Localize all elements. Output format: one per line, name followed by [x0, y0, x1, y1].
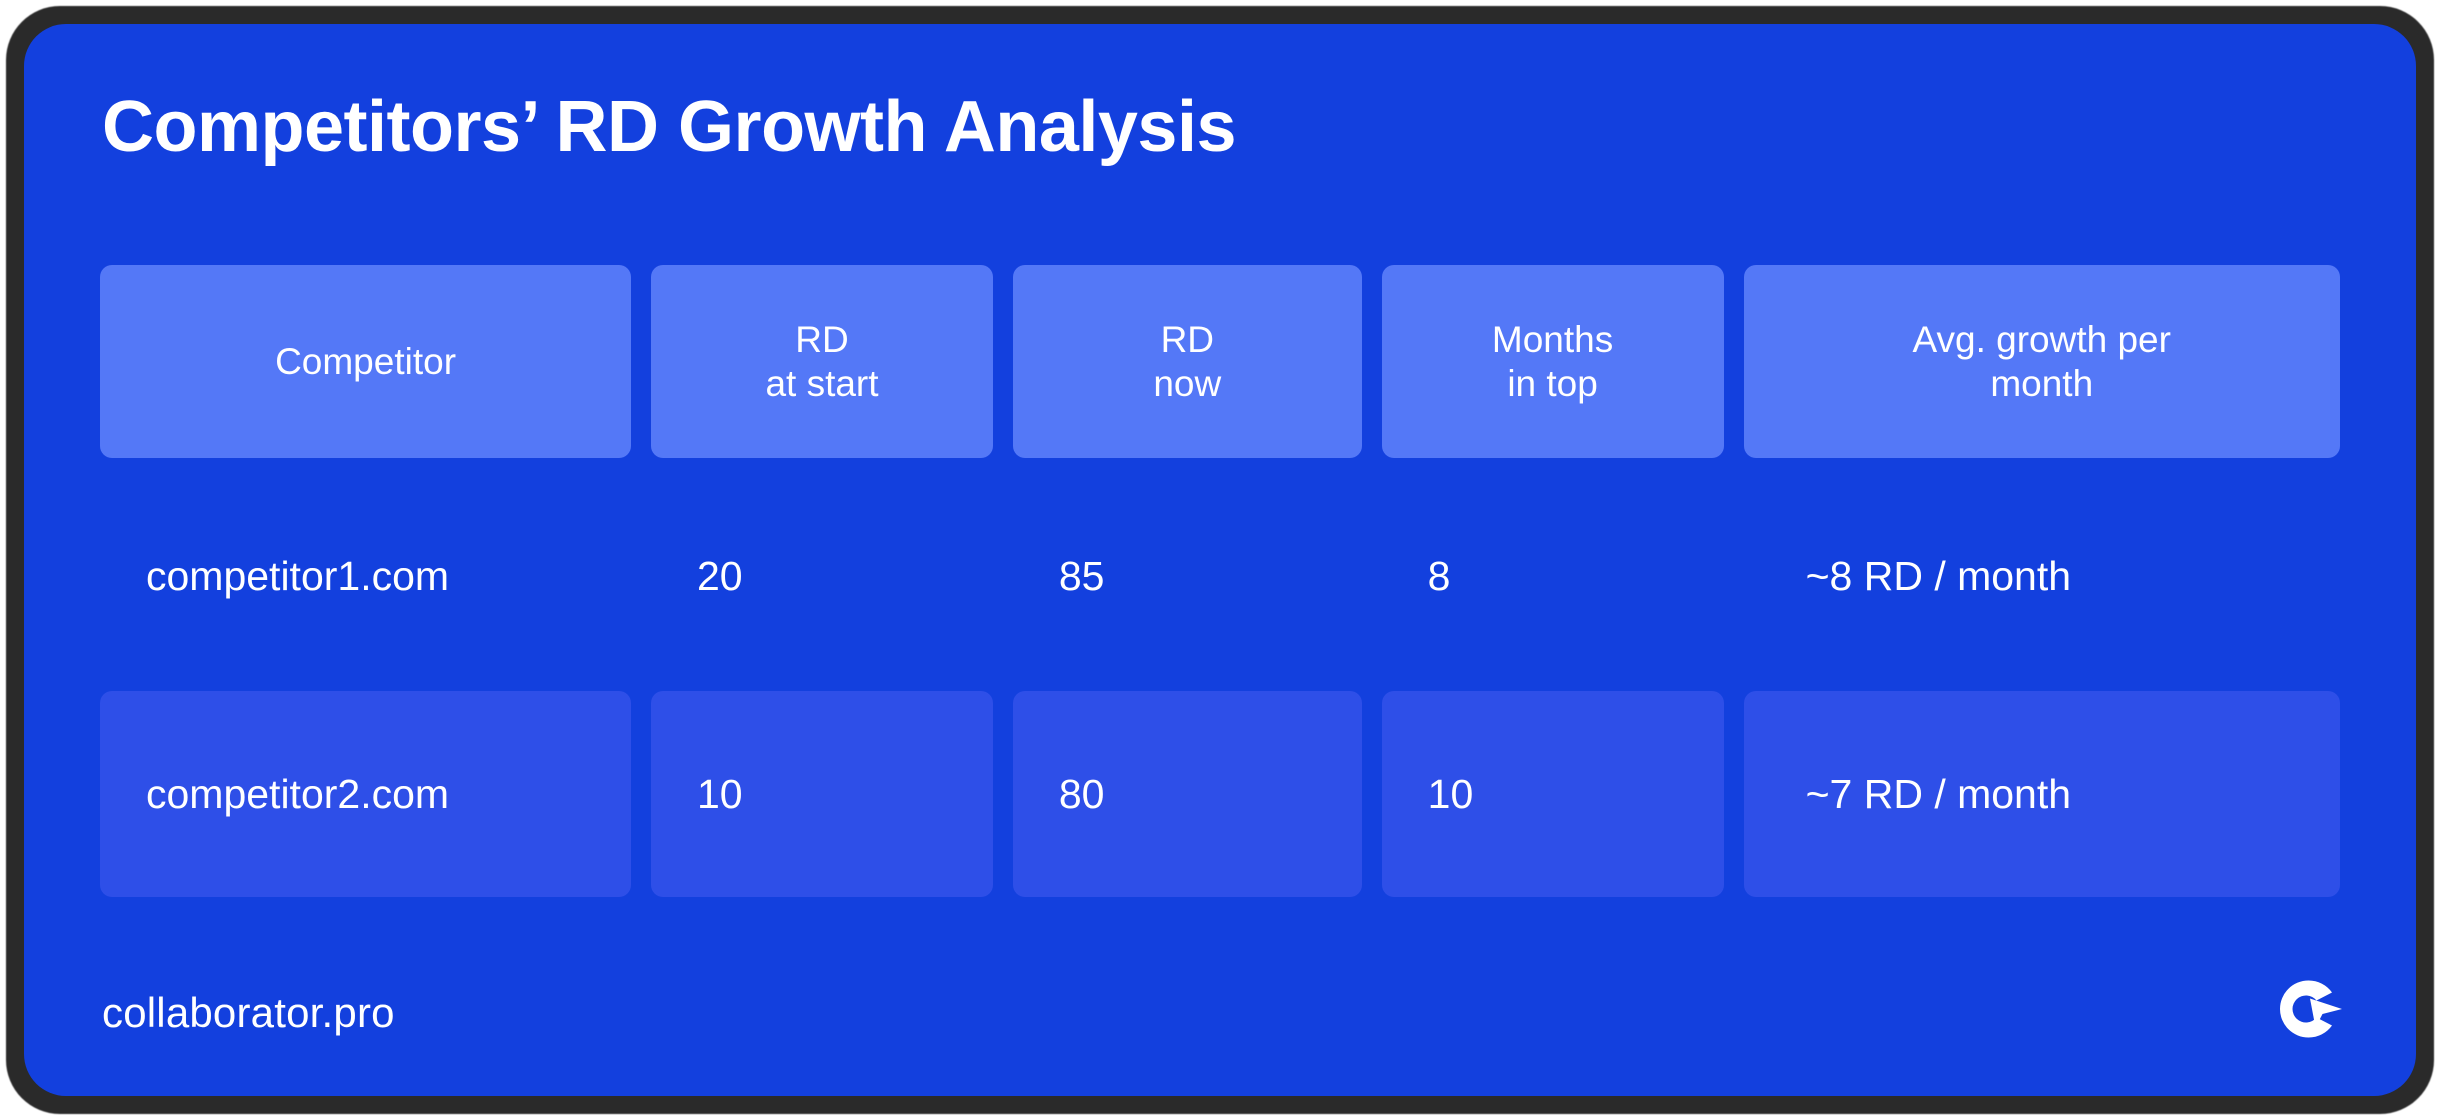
cell-competitor: competitor2.com — [100, 691, 631, 897]
column-header-competitor-label: Competitor — [275, 340, 456, 384]
cell-competitor: competitor1.com — [100, 480, 631, 673]
cell-rd-at-start: 20 — [651, 480, 993, 673]
column-header-rd-at-start: RD at start — [651, 265, 993, 458]
cell-avg-growth-per-month: ~8 RD / month — [1744, 480, 2340, 673]
column-header-rd-at-start-label: RD at start — [765, 318, 878, 405]
column-header-months-in-top: Months in top — [1382, 265, 1724, 458]
cell-avg-growth-per-month: ~7 RD / month — [1744, 691, 2340, 897]
cell-rd-now: 80 — [1013, 691, 1362, 897]
infographic-card: Competitors’ RD Growth Analysis Competit… — [24, 24, 2416, 1096]
cell-months-in-top: 8 — [1382, 480, 1724, 673]
screenshot-frame: Competitors’ RD Growth Analysis Competit… — [0, 0, 2440, 1120]
column-header-rd-now-label: RD now — [1153, 318, 1221, 405]
competitors-table: Competitor RD at start RD now Months in … — [100, 265, 2340, 897]
column-header-avg-growth-per-month: Avg. growth per month — [1744, 265, 2340, 458]
cell-months-in-top: 10 — [1382, 691, 1724, 897]
footer-brand-label: collaborator.pro — [102, 992, 395, 1034]
collaborator-c-cursor-logo-icon — [2272, 976, 2344, 1042]
table-row: competitor1.com 20 85 8 ~8 RD / month — [100, 480, 2340, 673]
cell-rd-at-start: 10 — [651, 691, 993, 897]
column-header-months-in-top-label: Months in top — [1492, 318, 1613, 405]
cell-rd-now: 85 — [1013, 480, 1362, 673]
column-header-rd-now: RD now — [1013, 265, 1362, 458]
column-header-competitor: Competitor — [100, 265, 631, 458]
table-header-row: Competitor RD at start RD now Months in … — [100, 265, 2340, 458]
column-header-avg-growth-per-month-label: Avg. growth per month — [1913, 318, 2171, 405]
page-title: Competitors’ RD Growth Analysis — [102, 86, 1236, 169]
table-row: competitor2.com 10 80 10 ~7 RD / month — [100, 691, 2340, 897]
